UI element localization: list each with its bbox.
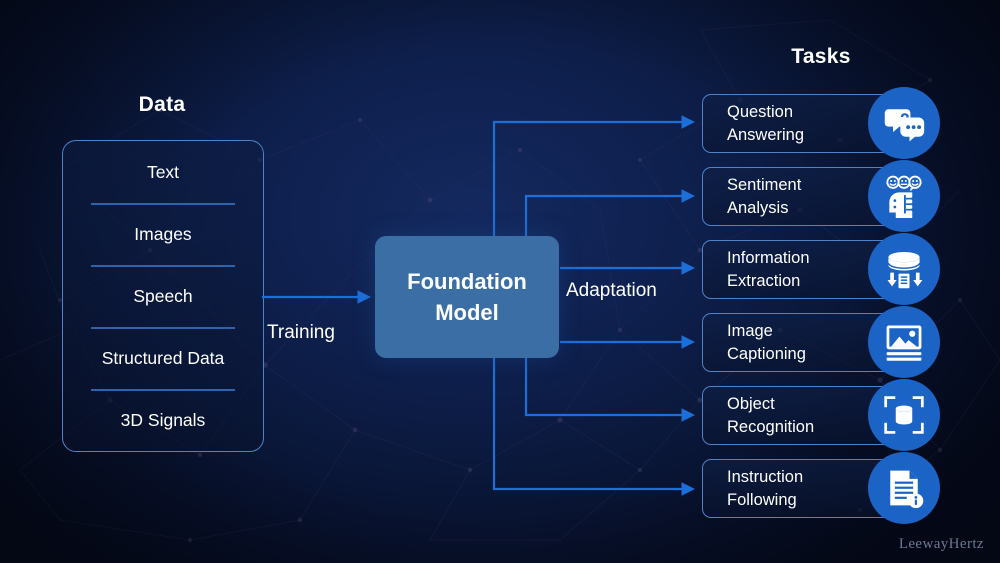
object-recognition-icon	[868, 379, 940, 451]
training-label: Training	[267, 322, 335, 344]
foundation-model-box: Foundation Model	[375, 236, 559, 358]
task-label-sentiment-analysis: SentimentAnalysis	[703, 174, 801, 219]
foundation-model-line1: Foundation	[407, 266, 527, 297]
task-label-image-captioning: ImageCaptioning	[703, 320, 806, 365]
connector-object-recognition	[526, 358, 684, 415]
diagram-canvas: Data Tasks Text Images Speech Structured…	[0, 0, 1000, 563]
instruction-following-icon	[868, 452, 940, 524]
task-label-information-extraction: InformationExtraction	[703, 247, 810, 292]
question-answering-icon	[868, 87, 940, 159]
task-label-question-answering: QuestionAnswering	[703, 101, 804, 146]
image-captioning-icon	[868, 306, 940, 378]
adaptation-label: Adaptation	[566, 280, 657, 302]
task-label-object-recognition: ObjectRecognition	[703, 393, 814, 438]
foundation-model-line2: Model	[435, 297, 499, 328]
connector-instruction-following	[494, 358, 684, 489]
watermark: LeewayHertz	[899, 536, 984, 553]
sentiment-analysis-icon	[868, 160, 940, 232]
information-extraction-icon	[868, 233, 940, 305]
task-label-instruction-following: InstructionFollowing	[703, 466, 803, 511]
